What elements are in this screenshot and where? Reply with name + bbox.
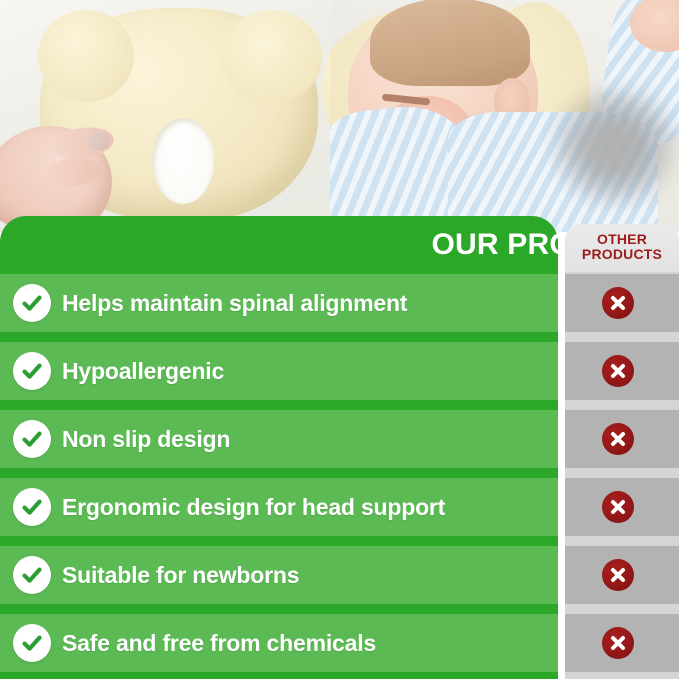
pillow-ear-right	[222, 10, 322, 104]
cross-icon	[602, 287, 634, 319]
check-icon	[13, 624, 51, 662]
photo-band	[0, 0, 679, 232]
check-icon	[13, 488, 51, 526]
table-row: Suitable for newborns	[0, 546, 679, 604]
lifestyle-photo-sleeping-baby	[330, 0, 679, 232]
feature-label: Helps maintain spinal alignment	[62, 274, 407, 332]
blurred-watermark-inner	[585, 120, 643, 176]
cross-icon	[602, 627, 634, 659]
feature-label: Hypoallergenic	[62, 342, 224, 400]
table-row: Helps maintain spinal alignment	[0, 274, 679, 332]
feature-label: Safe and free from chemicals	[62, 614, 376, 672]
other-products-title: OTHER PRODUCTS	[565, 232, 679, 262]
check-icon	[13, 352, 51, 390]
comparison-table: OUR PRODUCT OTHER PRODUCTS Helps maintai…	[0, 216, 679, 679]
table-row: Safe and free from chemicals	[0, 614, 679, 672]
check-icon	[13, 556, 51, 594]
cross-icon	[602, 355, 634, 387]
cross-icon	[602, 559, 634, 591]
other-products-title-line1: OTHER	[565, 232, 679, 247]
product-photo-hand-holding-pillow	[0, 0, 340, 232]
feature-label: Suitable for newborns	[62, 546, 299, 604]
feature-label: Ergonomic design for head support	[62, 478, 445, 536]
cross-icon	[602, 423, 634, 455]
cross-icon	[602, 491, 634, 523]
infographic-root: OUR PRODUCT OTHER PRODUCTS Helps maintai…	[0, 0, 679, 679]
feature-label: Non slip design	[62, 410, 230, 468]
feature-rows: Helps maintain spinal alignmentHypoaller…	[0, 272, 679, 679]
baby-hair	[370, 0, 530, 86]
pillow-center-hole	[152, 118, 214, 204]
pillow-ear-left	[38, 10, 134, 102]
fingernail	[86, 131, 110, 151]
table-row: Ergonomic design for head support	[0, 478, 679, 536]
table-row: Non slip design	[0, 410, 679, 468]
table-row: Hypoallergenic	[0, 342, 679, 400]
check-icon	[13, 284, 51, 322]
check-icon	[13, 420, 51, 458]
other-products-title-line2: PRODUCTS	[565, 247, 679, 262]
